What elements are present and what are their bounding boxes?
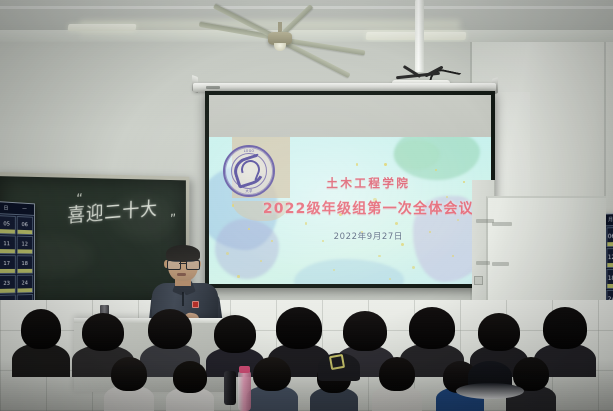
calendar-day-cell: 18	[606, 269, 613, 289]
roller-brand-mark	[206, 86, 220, 89]
calendar-day-cell: 17	[0, 255, 15, 274]
calendar-day-cell: 06	[16, 216, 33, 235]
projection-screen: LOGO 大学 土木工程学院 2022级年级组第一次全体会议 2022年9月27…	[205, 91, 495, 288]
calendar-day-cell: 11	[0, 235, 15, 254]
confetti-dot	[237, 275, 240, 278]
wall-seam	[604, 42, 606, 222]
door-marking	[492, 222, 512, 226]
classroom-photo: LOGO 大学 土木工程学院 2022级年级组第一次全体会议 2022年9月27…	[0, 0, 613, 411]
audience-head	[21, 309, 61, 349]
calendar-header-cell: 日	[4, 204, 10, 211]
screen-unlit-band	[209, 95, 491, 137]
audience-head	[214, 315, 256, 353]
slide-title: 土木工程学院	[254, 175, 482, 191]
calendar-header-cell: 月	[608, 216, 613, 223]
calendar-header-cell: 一	[22, 206, 27, 213]
cap-logo-icon	[329, 354, 345, 370]
confetti-dot	[452, 255, 455, 258]
slide-subtitle: 2022级年级组第一次全体会议	[254, 198, 482, 218]
door-marking	[476, 261, 490, 265]
audience-member	[104, 351, 154, 411]
watercolor-blob-green	[394, 140, 440, 170]
slide-text-block: 土木工程学院 2022级年级组第一次全体会议 2022年9月27日	[254, 175, 482, 242]
audience-head	[148, 309, 192, 349]
calendar-day-cell: 23	[0, 275, 15, 294]
chalk-quote-close: ”	[170, 212, 178, 228]
audience-head	[409, 307, 455, 349]
audience-head	[543, 307, 587, 349]
confetti-dot	[384, 163, 387, 166]
calendar-day-cell: 12	[16, 236, 33, 255]
door-marking	[492, 262, 509, 266]
confetti-dot	[356, 163, 359, 166]
audience-head	[343, 311, 387, 351]
calendar-day-cell: 06	[606, 227, 613, 247]
calendar-day-cell: 05	[0, 215, 15, 234]
bucket-hat-brim	[456, 383, 524, 399]
glasses-icon	[167, 260, 199, 268]
presentation-slide: LOGO 大学 土木工程学院 2022级年级组第一次全体会议 2022年9月27…	[209, 137, 491, 284]
water-bottle	[238, 371, 251, 411]
audience-member	[506, 351, 556, 411]
audience-member	[12, 303, 70, 377]
audience-head	[379, 357, 415, 391]
audience	[0, 320, 613, 411]
audience-head	[173, 361, 207, 393]
audience-head	[478, 313, 520, 351]
audience-member	[246, 351, 298, 411]
confetti-dot	[232, 204, 235, 207]
audience-head	[253, 357, 291, 391]
fluorescent-light-icon	[68, 24, 137, 31]
confetti-dot	[435, 169, 437, 171]
calendar-day-cell: 12	[606, 248, 613, 268]
audience-head	[82, 313, 124, 351]
slide-date: 2022年9月27日	[254, 230, 482, 242]
audience-head	[111, 357, 147, 391]
bottle-cap	[239, 366, 250, 373]
audience-member	[372, 351, 422, 411]
audience-member	[166, 355, 214, 411]
thermos	[224, 371, 236, 405]
calendar-day-cell: 24	[16, 275, 33, 294]
screen-surface: LOGO 大学 土木工程学院 2022级年级组第一次全体会议 2022年9月27…	[209, 95, 491, 284]
door-latch-icon[interactable]	[474, 276, 483, 285]
audience-head	[276, 307, 322, 349]
confetti-dot	[378, 255, 381, 258]
calendar-day-cell: 18	[16, 255, 33, 274]
